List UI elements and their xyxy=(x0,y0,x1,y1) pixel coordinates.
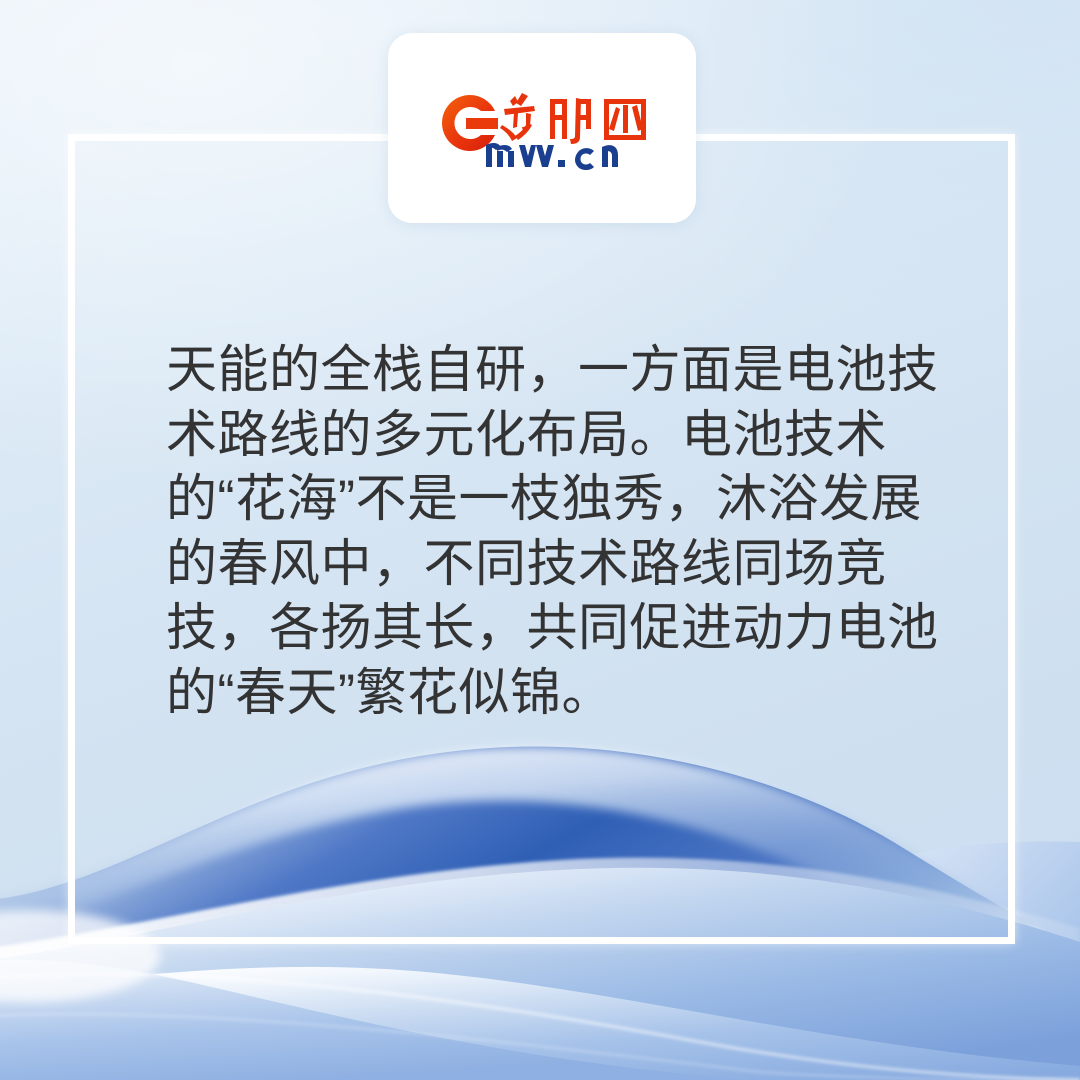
dune-mid xyxy=(0,868,1080,1080)
brand-domain-text xyxy=(486,143,618,170)
brand-logo-card xyxy=(388,33,696,223)
dune-crease-1 xyxy=(0,974,1080,1080)
brand-logo-svg xyxy=(426,85,658,171)
dune-front xyxy=(0,967,1080,1080)
poster-canvas: 天能的全栈自研，一方面是电池技术路线的多元化布局。电池技术的“花海”不是一枝独秀… xyxy=(0,0,1080,1080)
dune-rim-highlight-1 xyxy=(0,858,1080,964)
brand-chinese-name xyxy=(500,93,646,144)
dune-crease-2 xyxy=(0,1014,1080,1080)
brand-logo xyxy=(426,85,658,171)
body-paragraph: 天能的全栈自研，一方面是电池技术路线的多元化布局。电池技术的“花海”不是一枝独秀… xyxy=(166,338,956,725)
dune-left-glow xyxy=(0,910,160,1002)
brand-g-mark xyxy=(442,95,498,151)
dune-far-right xyxy=(760,841,1080,1080)
dune-dark-highlight xyxy=(0,747,1080,990)
dune-base-left xyxy=(0,960,760,1080)
dune-dark-primary xyxy=(0,747,1080,1080)
